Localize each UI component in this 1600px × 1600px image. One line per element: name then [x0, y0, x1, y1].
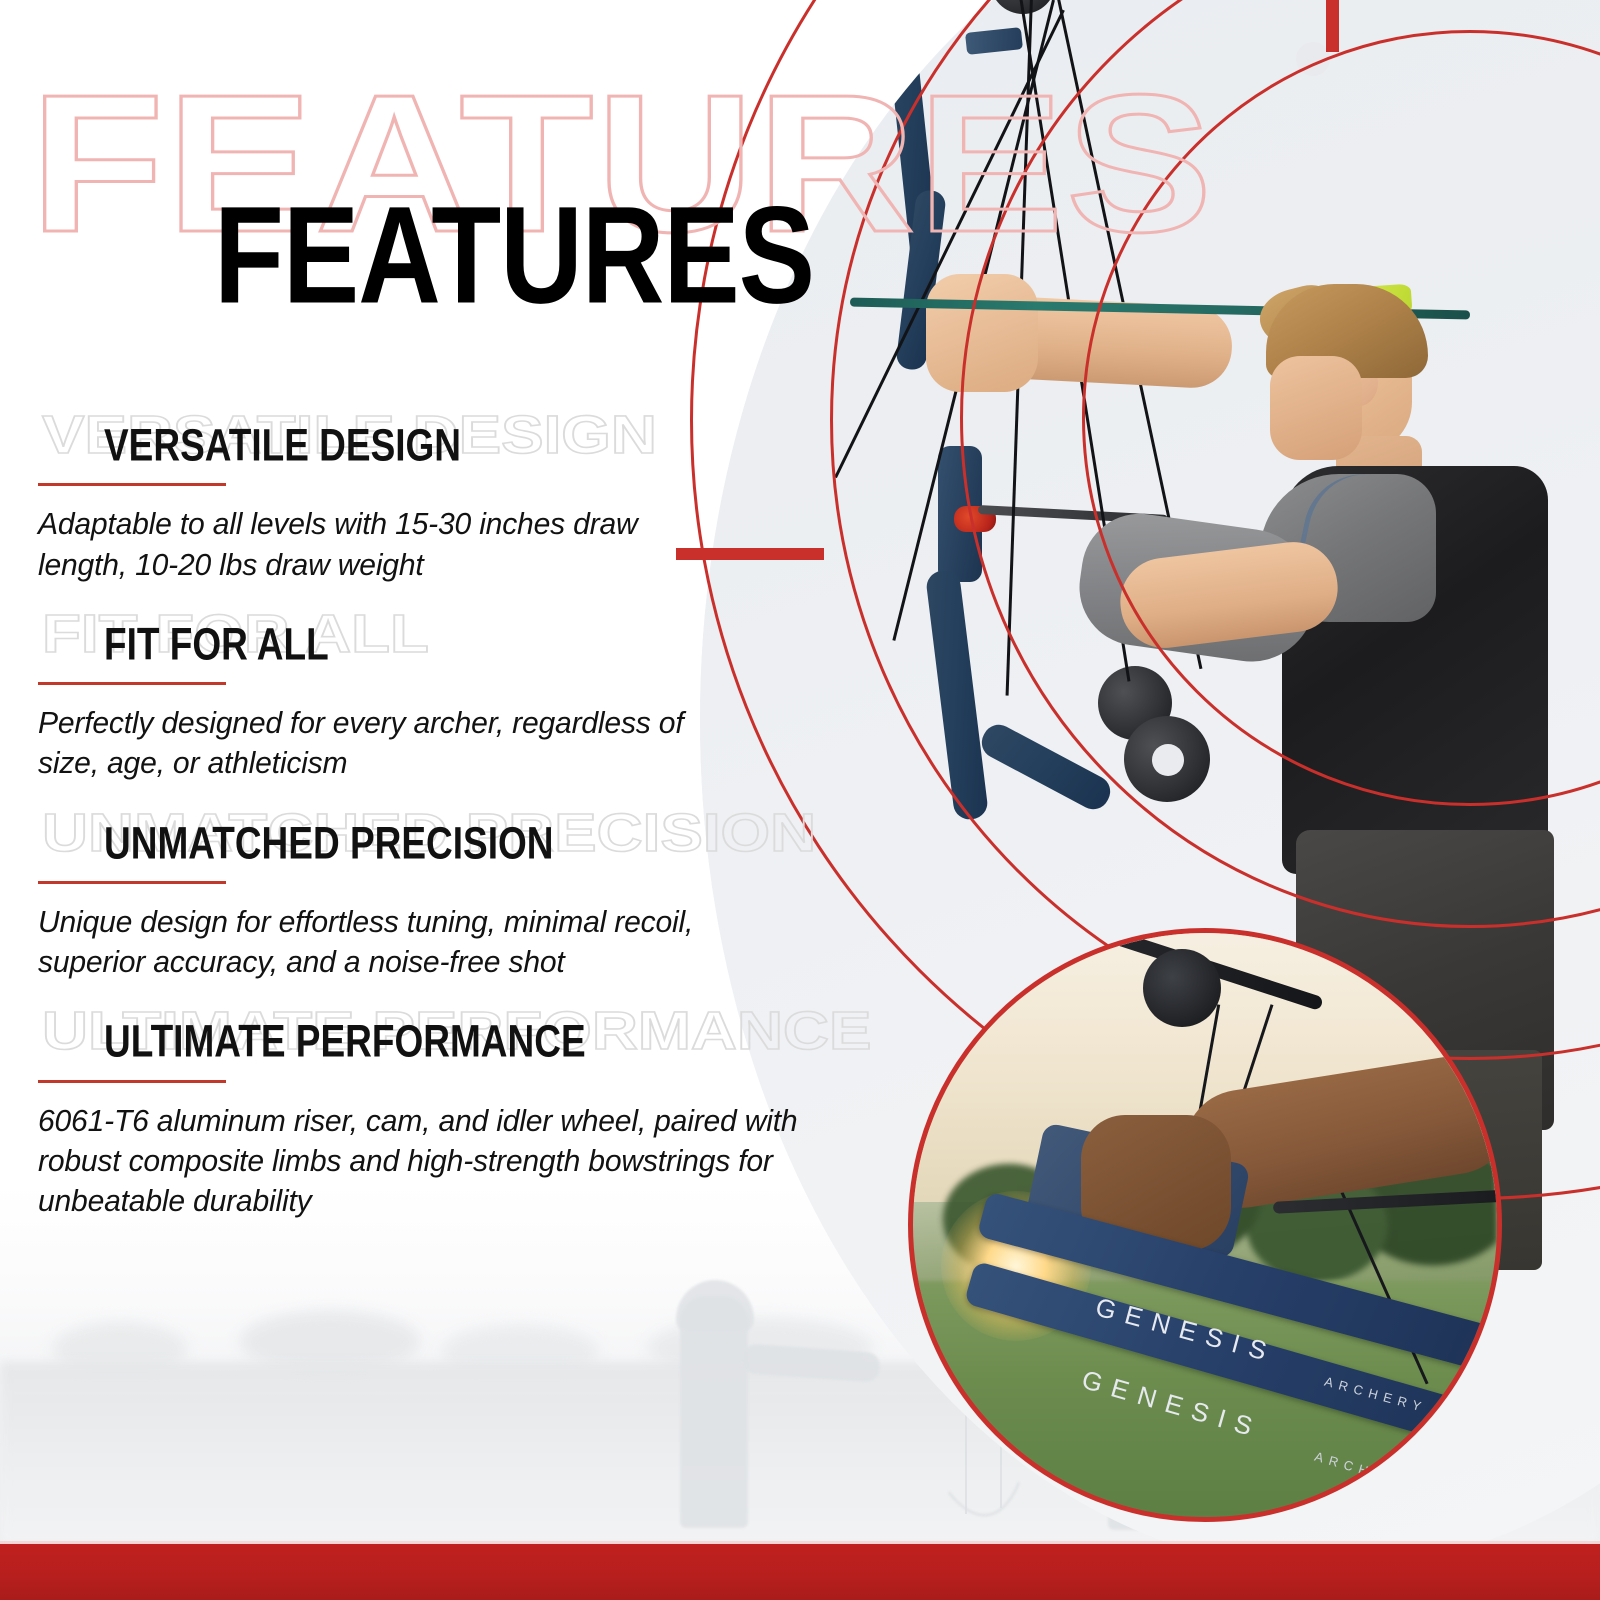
feature-heading: UNMATCHED PRECISION	[104, 819, 554, 867]
inset-photo-genesis-limbs: GENESIS ARCHERY GENESIS ARCHERY	[908, 928, 1502, 1522]
feature-item-ultimate-performance: ULTIMATE PERFORMANCE ULTIMATE PERFORMANC…	[38, 1026, 918, 1221]
page-title-block: FEATURES FEATURES	[0, 60, 1180, 290]
footer-accent-bar	[0, 1544, 1600, 1600]
bow-cam-hub	[1152, 744, 1184, 776]
feature-body: Unique design for effortless tuning, min…	[38, 902, 785, 983]
bow-idler-wheel-hub	[1296, 42, 1330, 76]
feature-heading: ULTIMATE PERFORMANCE	[104, 1018, 586, 1066]
feature-item-unmatched-precision: UNMATCHED PRECISION UNMATCHED PRECISION …	[38, 828, 918, 983]
feature-body: Adaptable to all levels with 15-30 inche…	[38, 504, 717, 585]
archer-bow-hand	[926, 274, 1038, 392]
inset-bow-cam	[1143, 949, 1221, 1027]
archer-draw-hand	[1270, 356, 1362, 460]
page-title: FEATURES	[214, 186, 814, 324]
feature-heading: FIT FOR ALL	[104, 620, 329, 668]
feature-item-fit-for-all: FIT FOR ALL FIT FOR ALL Perfectly design…	[38, 629, 918, 784]
feature-item-versatile-design: VERSATILE DESIGN VERSATILE DESIGN Adapta…	[38, 430, 918, 585]
infographic-canvas: Hurricane	[0, 0, 1600, 1600]
feature-rule	[38, 881, 226, 884]
feature-rule	[38, 483, 226, 486]
feature-rule	[38, 682, 226, 685]
feature-rule	[38, 1080, 226, 1083]
feature-heading: VERSATILE DESIGN	[104, 421, 461, 469]
feature-list: VERSATILE DESIGN VERSATILE DESIGN Adapta…	[38, 430, 918, 1266]
feature-body: 6061-T6 aluminum riser, cam, and idler w…	[38, 1101, 858, 1222]
feature-body: Perfectly designed for every archer, reg…	[38, 703, 717, 784]
